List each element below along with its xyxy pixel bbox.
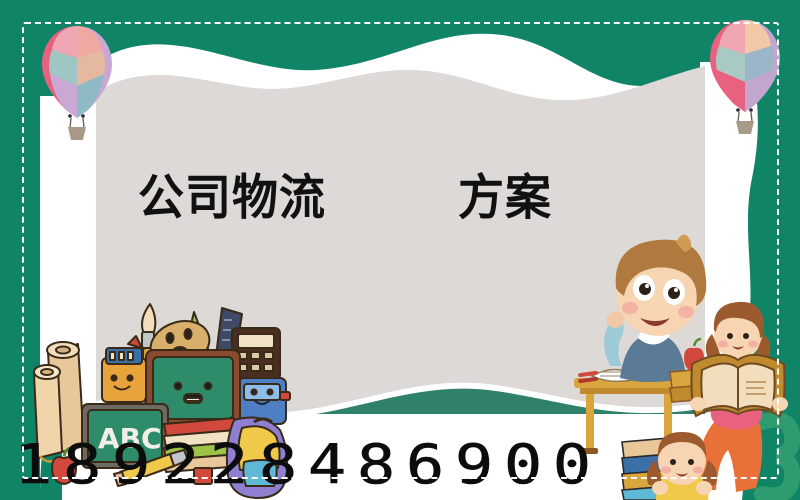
hot-air-balloon-icon xyxy=(38,24,116,142)
page-title: 公司物流 方案 xyxy=(138,171,552,224)
hot-air-balloon-icon xyxy=(706,18,784,136)
title-segment-2: 方案 xyxy=(458,171,552,224)
title-segment-1: 公司物流 xyxy=(138,171,326,224)
phone-number: 189228486900 xyxy=(14,437,602,493)
poster-canvas: 公司物流 方案 189228486900 xyxy=(0,0,800,500)
